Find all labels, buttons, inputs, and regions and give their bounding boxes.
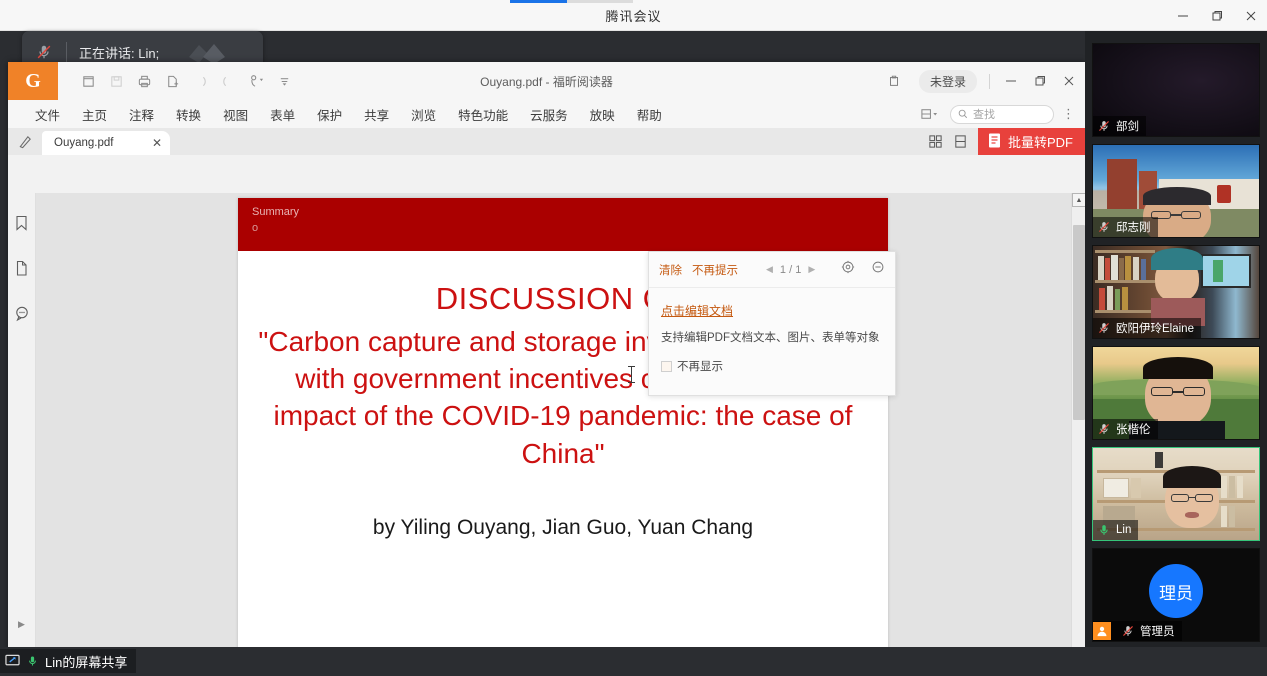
participant-tile[interactable]: 张楷伦 — [1092, 346, 1260, 440]
redo-icon[interactable] — [216, 69, 241, 94]
batch-convert-pdf-label: 批量转PDF — [1008, 132, 1073, 151]
mic-muted-icon — [1097, 321, 1111, 335]
slide-banner-line1: Summary — [252, 206, 299, 218]
host-badge-icon — [1093, 622, 1111, 640]
layout-dropdown-icon[interactable] — [917, 102, 942, 127]
participant-tile[interactable]: 邱志刚 — [1092, 144, 1260, 238]
menu-item-home[interactable]: 主页 — [71, 103, 118, 126]
mic-muted-icon — [22, 43, 66, 61]
document-tab-label: Ouyang.pdf — [54, 137, 113, 149]
menu-right-tools: 查找 ⋮ — [917, 100, 1075, 128]
mic-muted-icon — [1097, 422, 1111, 436]
participant-name-bar: 欧阳伊玲Elaine — [1093, 318, 1201, 338]
mic-active-icon — [26, 654, 39, 668]
menu-item-view[interactable]: 视图 — [212, 103, 259, 126]
meeting-window-controls — [1175, 0, 1259, 31]
pdf-vertical-scrollbar[interactable]: ▲ — [1071, 193, 1085, 658]
menu-item-convert[interactable]: 转换 — [165, 103, 212, 126]
participant-name: 管理员 — [1140, 623, 1175, 639]
scrollbar-thumb[interactable] — [1073, 225, 1085, 420]
search-placeholder: 查找 — [973, 106, 995, 122]
meeting-app-title: 腾讯会议 — [605, 6, 661, 25]
restore-icon[interactable] — [1209, 8, 1225, 24]
print-icon[interactable] — [132, 69, 157, 94]
tip-page-count: 1 / 1 — [780, 264, 801, 276]
login-status-badge[interactable]: 未登录 — [919, 70, 977, 93]
bookmark-icon[interactable] — [14, 215, 29, 232]
batch-convert-pdf-button[interactable]: 批量转PDF — [978, 128, 1085, 155]
participant-name-bar: 部剑 — [1093, 116, 1146, 136]
menu-item-features[interactable]: 特色功能 — [447, 103, 519, 126]
save-icon[interactable] — [104, 69, 129, 94]
tip-body: 点击编辑文档 支持编辑PDF文档文本、图片、表单等对象 不再显示 — [649, 288, 895, 374]
tip-hide-checkbox-label: 不再显示 — [677, 358, 723, 374]
tabstrip-right-tools: 批量转PDF — [928, 128, 1085, 155]
split-view-icon[interactable] — [953, 134, 968, 149]
slide-banner-line2: o — [252, 222, 258, 234]
mic-muted-icon — [1097, 220, 1111, 234]
participant-name: 张楷伦 — [1116, 421, 1151, 437]
participant-name: 部剑 — [1116, 118, 1139, 134]
quick-tools — [58, 69, 297, 94]
close-icon[interactable] — [1060, 73, 1077, 90]
tip-prev-icon[interactable]: ◀ — [766, 264, 773, 275]
menu-item-comment[interactable]: 注释 — [118, 103, 165, 126]
scroll-up-icon[interactable]: ▲ — [1072, 193, 1085, 207]
restore-icon[interactable] — [1031, 73, 1048, 90]
edit-document-tip-popup[interactable]: 清除 不再提示 ◀ 1 / 1 ▶ — [648, 251, 896, 396]
tip-hide-checkbox[interactable]: 不再显示 — [661, 358, 883, 374]
tip-next-icon[interactable]: ▶ — [808, 264, 815, 275]
menu-item-present[interactable]: 放映 — [579, 103, 626, 126]
pdf-file-icon — [987, 132, 1002, 152]
participant-name: 邱志刚 — [1116, 219, 1151, 235]
divider — [989, 74, 990, 89]
tip-minimize-icon[interactable] — [871, 260, 885, 279]
tip-dont-remind-button[interactable]: 不再提示 — [692, 262, 738, 278]
tab-active-indicator — [510, 0, 567, 3]
menu-item-form[interactable]: 表单 — [259, 103, 306, 126]
participant-tile[interactable]: 部剑 — [1092, 43, 1260, 137]
touch-mode-icon[interactable] — [244, 69, 269, 94]
mic-muted-icon — [1121, 624, 1135, 638]
new-page-icon[interactable] — [160, 69, 185, 94]
participant-name-bar: 管理员 — [1093, 621, 1182, 641]
search-icon — [958, 109, 968, 119]
pdf-side-rail: ▶ — [8, 193, 36, 658]
participant-sidebar: 部剑 — [1085, 31, 1267, 676]
tip-settings-icon[interactable] — [841, 260, 855, 279]
menu-item-protect[interactable]: 保护 — [306, 103, 353, 126]
share-status-bar: Lin的屏幕共享 — [0, 647, 1267, 676]
menu-item-share[interactable]: 共享 — [353, 103, 400, 126]
pdf-canvas[interactable]: Summary o DISCUSSION ON "Carbon capture … — [36, 193, 1085, 658]
screen-share-icon — [5, 654, 20, 668]
participant-name: 欧阳伊玲Elaine — [1116, 320, 1194, 336]
close-icon[interactable] — [1243, 8, 1259, 24]
menu-item-browse[interactable]: 浏览 — [400, 103, 447, 126]
participant-tile[interactable]: 理员 管理员 — [1092, 548, 1260, 642]
comments-icon[interactable] — [14, 305, 30, 322]
grid-view-icon[interactable] — [928, 134, 943, 149]
participant-name-bar: 邱志刚 — [1093, 217, 1158, 237]
participant-name-bar: Lin — [1093, 520, 1138, 540]
tip-title-link[interactable]: 点击编辑文档 — [661, 302, 733, 319]
screen-share-indicator[interactable]: Lin的屏幕共享 — [0, 649, 136, 673]
pdf-window-controls: 未登录 — [882, 62, 1077, 100]
pdf-tab-strip: Ouyang.pdf ✕ 批量转PDF — [8, 128, 1085, 155]
menu-item-help[interactable]: 帮助 — [626, 103, 673, 126]
pdf-reader-area: ▶ Summary o DISCUSSION ON "Carbon captur… — [8, 193, 1085, 658]
tip-pager: ◀ 1 / 1 ▶ — [766, 264, 815, 276]
menu-item-cloud[interactable]: 云服务 — [519, 103, 579, 126]
tip-header: 清除 不再提示 ◀ 1 / 1 ▶ — [649, 252, 895, 288]
tip-clear-button[interactable]: 清除 — [659, 262, 682, 278]
speaking-label: 正在讲话: Lin; — [67, 43, 159, 62]
document-tab[interactable]: Ouyang.pdf ✕ — [42, 131, 170, 155]
highlight-tool-icon[interactable] — [8, 128, 42, 155]
tab-inactive-indicator — [567, 0, 633, 3]
pdf-reader-window: G — [8, 62, 1085, 658]
screen-share-label: Lin的屏幕共享 — [45, 652, 127, 671]
minimize-icon[interactable] — [1175, 8, 1191, 24]
pdf-quick-access-bar: G — [8, 62, 1085, 100]
undo-icon[interactable] — [188, 69, 213, 94]
menu-item-file[interactable]: 文件 — [24, 103, 71, 126]
meeting-titlebar: 腾讯会议 — [0, 0, 1267, 31]
participant-name: Lin — [1116, 524, 1131, 536]
avatar: 理员 — [1149, 564, 1203, 618]
open-icon[interactable] — [76, 69, 101, 94]
mic-active-icon — [1097, 523, 1111, 537]
text-cursor-icon — [631, 366, 632, 383]
more-tools-icon[interactable] — [272, 69, 297, 94]
cloud-doc-icon[interactable] — [882, 69, 907, 94]
app-logo-icon: G — [8, 62, 58, 100]
expand-panel-icon[interactable]: ▶ — [18, 619, 25, 630]
mic-muted-icon — [1097, 119, 1111, 133]
checkbox-icon[interactable] — [661, 361, 672, 372]
meeting-body: 正在讲话: Lin; G — [0, 31, 1267, 676]
pdf-menu-bar: 文件 主页 注释 转换 视图 表单 保护 共享 浏览 特色功能 云服务 放映 帮… — [8, 100, 1085, 128]
more-options-icon[interactable]: ⋮ — [1062, 110, 1075, 118]
close-tab-icon[interactable]: ✕ — [152, 136, 162, 150]
tip-header-actions — [841, 260, 885, 279]
tip-description: 支持编辑PDF文档文本、图片、表单等对象 — [661, 329, 883, 345]
pages-icon[interactable] — [14, 260, 29, 277]
participant-tile-active[interactable]: Lin — [1092, 447, 1260, 541]
minimize-icon[interactable] — [1002, 73, 1019, 90]
slide-authors: by Yiling Ouyang, Jian Guo, Yuan Chang — [238, 516, 888, 540]
slide-banner: Summary o — [238, 198, 888, 251]
participant-name-bar: 张楷伦 — [1093, 419, 1158, 439]
search-input[interactable]: 查找 — [950, 105, 1054, 124]
participant-tile[interactable]: 欧阳伊玲Elaine — [1092, 245, 1260, 339]
